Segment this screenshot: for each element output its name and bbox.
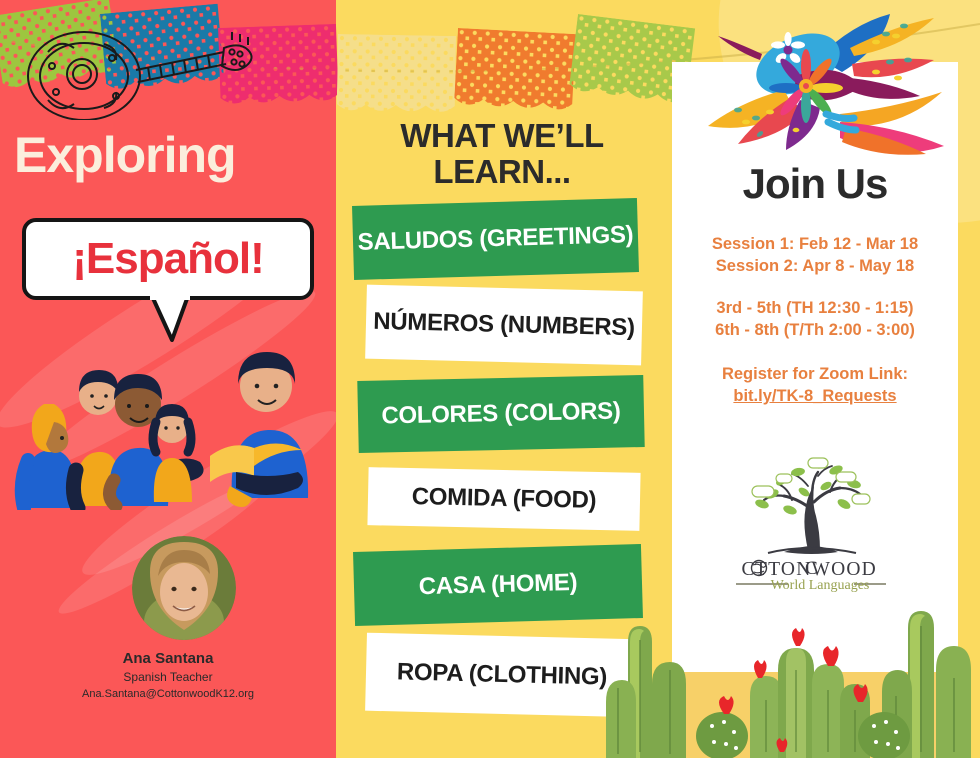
session-dates: Session 1: Feb 12 - Mar 18 Session 2: Ap… bbox=[672, 234, 958, 278]
grade-times: 3rd - 5th (TH 12:30 - 1:15) 6th - 8th (T… bbox=[672, 298, 958, 342]
topic-label: NÚMEROS (NUMBERS) bbox=[373, 309, 635, 341]
topic-label: COLORES (COLORS) bbox=[381, 399, 621, 429]
session-1-line: Session 1: Feb 12 - Mar 18 bbox=[672, 234, 958, 256]
guitar-icon bbox=[8, 8, 308, 120]
learn-heading: WHAT WE’LL LEARN... bbox=[352, 118, 652, 189]
teacher-name: Ana Santana bbox=[0, 650, 336, 667]
topic-label: ROPA (CLOTHING) bbox=[397, 660, 608, 691]
alebrije-hummingbird-icon bbox=[700, 2, 950, 162]
cactus-illustration bbox=[600, 560, 980, 758]
session-2-line: Session 2: Apr 8 - May 18 bbox=[672, 256, 958, 278]
register-link[interactable]: bit.ly/TK-8_Requests bbox=[672, 386, 958, 408]
topic-label: COMIDA (FOOD) bbox=[411, 484, 596, 513]
students-reading-illustration bbox=[14, 330, 330, 510]
avatar bbox=[132, 536, 236, 640]
topic-label: SALUDOS (GREETINGS) bbox=[357, 222, 633, 255]
topic-banner-comida: COMIDA (FOOD) bbox=[367, 467, 640, 531]
speech-bubble: ¡Español! bbox=[22, 218, 314, 300]
grades-6-8-line: 6th - 8th (T/Th 2:00 - 3:00) bbox=[672, 320, 958, 342]
speech-bubble-text: ¡Español! bbox=[72, 237, 263, 281]
page-title: Exploring bbox=[14, 130, 334, 180]
topic-label: CASA (HOME) bbox=[418, 570, 577, 600]
flyer-canvas: Exploring ¡Español! bbox=[0, 0, 980, 758]
teacher-email: Ana.Santana@CottonwoodK12.org bbox=[0, 688, 336, 700]
register-label: Register for Zoom Link: bbox=[672, 364, 958, 386]
join-us-heading: Join Us bbox=[672, 160, 958, 208]
grades-3-5-line: 3rd - 5th (TH 12:30 - 1:15) bbox=[672, 298, 958, 320]
topic-banner-colores: COLORES (COLORS) bbox=[357, 375, 644, 453]
register-block: Register for Zoom Link: bit.ly/TK-8_Requ… bbox=[672, 364, 958, 408]
topic-banner-saludos: SALUDOS (GREETINGS) bbox=[352, 198, 639, 280]
topic-banner-ropa: ROPA (CLOTHING) bbox=[365, 633, 639, 718]
topic-banner-numeros: NÚMEROS (NUMBERS) bbox=[365, 285, 643, 366]
teacher-role: Spanish Teacher bbox=[0, 670, 336, 684]
